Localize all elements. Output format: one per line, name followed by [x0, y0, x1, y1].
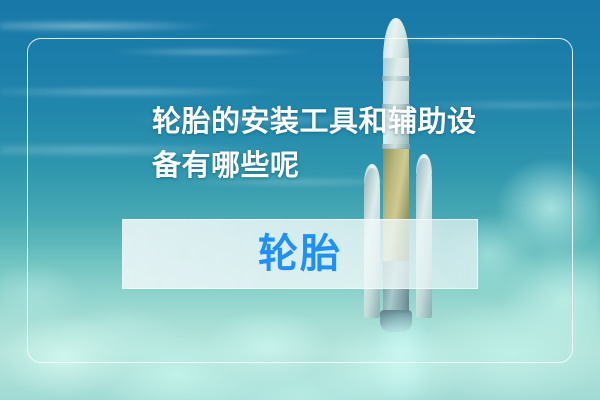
rocket-band: [382, 76, 410, 81]
keyword-label: 轮胎: [258, 234, 342, 274]
keyword-banner: 轮胎: [122, 219, 478, 289]
page-title: 轮胎的安装工具和辅助设备有哪些呢: [152, 100, 482, 188]
poster-canvas: 轮胎的安装工具和辅助设备有哪些呢 轮胎: [0, 0, 600, 400]
rocket-nose-cone: [383, 18, 409, 62]
